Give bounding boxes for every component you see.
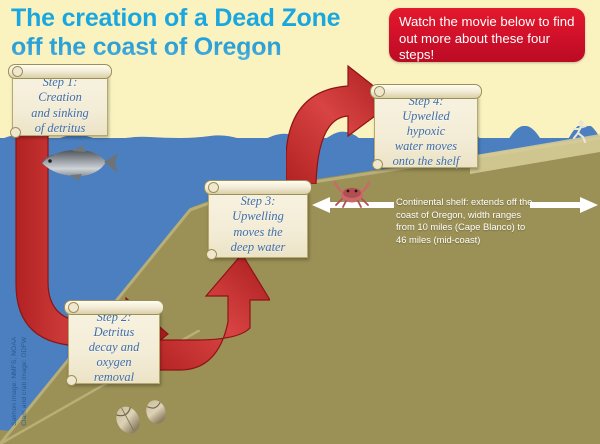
step-2-body: Step 2: Detritus decay and oxygen remova… [68, 311, 160, 384]
step-1-scroll-top [8, 64, 112, 79]
step-1-text: Step 1: Creation and sinking of detritus [27, 75, 92, 136]
scroll-knob-icon [372, 159, 383, 170]
infographic-canvas: The creation of a Dead Zone off the coas… [0, 0, 600, 444]
step-3-text: Step 3: Upwelling moves the deep water [227, 194, 290, 255]
step-1-scroll: Step 1: Creation and sinking of detritus [8, 64, 112, 140]
right-arrow-icon [530, 196, 598, 214]
crab-icon [334, 180, 370, 208]
scroll-knob-icon [208, 182, 219, 193]
step-2-text: Step 2: Detritus decay and oxygen remova… [85, 310, 144, 386]
step-3-body: Step 3: Upwelling moves the deep water [208, 191, 308, 258]
step-4-scroll: Step 4: Upwelled hypoxic water moves ont… [370, 84, 482, 172]
salmon-fish-icon [36, 142, 120, 184]
step-1-body: Step 1: Creation and sinking of detritus [12, 75, 108, 136]
step-2-scroll: Step 2: Detritus decay and oxygen remova… [64, 300, 164, 388]
credit-line-2: Clam and crab image: ODFW [20, 306, 30, 426]
step-3-scroll: Step 3: Upwelling moves the deep water [204, 180, 312, 262]
scroll-knob-icon [374, 86, 385, 97]
scroll-knob-icon [68, 302, 79, 313]
title-line-1: The creation of a Dead Zone [11, 4, 391, 33]
step-2-scroll-top [64, 300, 164, 315]
page-title: The creation of a Dead Zone off the coas… [11, 4, 391, 62]
watch-movie-callout: Watch the movie below to find out more a… [389, 8, 585, 62]
image-credits: Salmon image: NMFS, NOAA Clam and crab i… [10, 306, 30, 426]
step-3-scroll-top [204, 180, 312, 195]
step-4-body: Step 4: Upwelled hypoxic water moves ont… [374, 95, 478, 168]
continental-shelf-note: Continental shelf: extends off the coast… [396, 196, 536, 246]
clam-shells-icon [108, 396, 174, 438]
credit-line-1: Salmon image: NMFS, NOAA [10, 306, 20, 426]
step-4-scroll-top [370, 84, 482, 99]
arrow-step2-to-step3 [150, 248, 270, 372]
scroll-knob-icon [12, 66, 23, 77]
beach-jogger-icon [566, 118, 592, 144]
scroll-knob-icon [206, 249, 217, 260]
scroll-knob-icon [66, 375, 77, 386]
scroll-knob-icon [10, 127, 21, 138]
step-4-text: Step 4: Upwelled hypoxic water moves ont… [389, 94, 464, 170]
